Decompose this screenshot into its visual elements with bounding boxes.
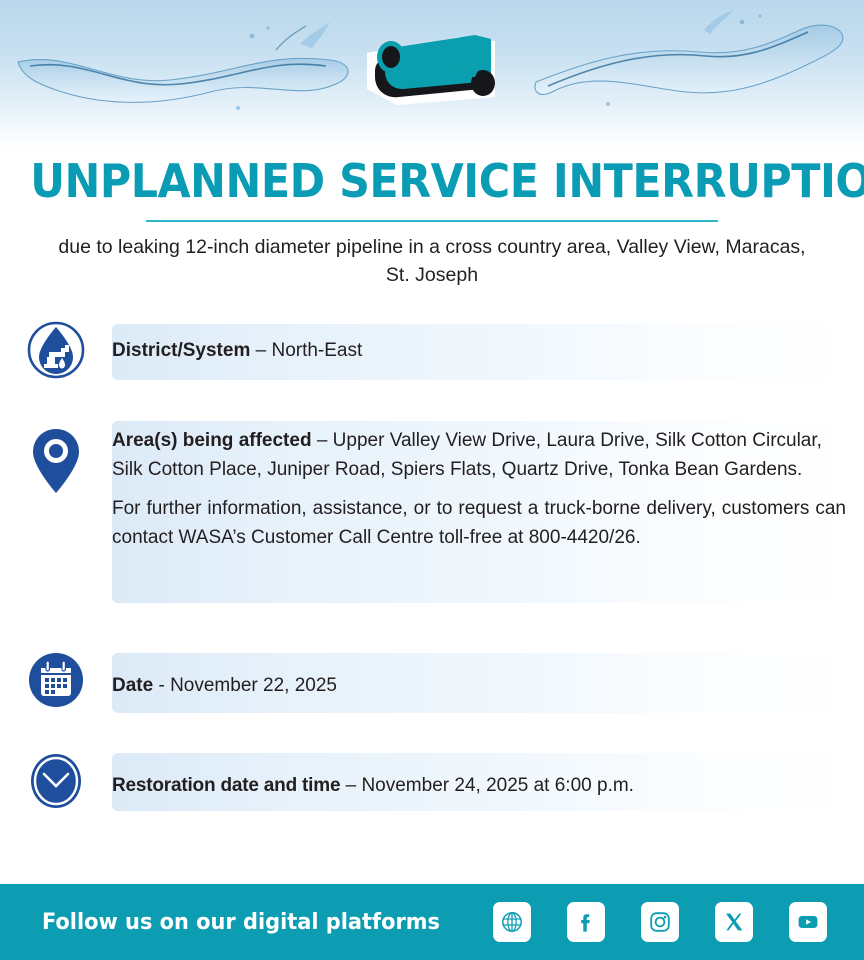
detail-row-date: Date - November 22, 2025 — [0, 647, 864, 725]
icon-cell — [0, 647, 112, 709]
row-separator: – — [340, 775, 361, 796]
title-divider — [146, 220, 718, 222]
x-twitter-icon[interactable] — [715, 902, 753, 942]
clock-icon — [27, 752, 85, 810]
website-globe-icon[interactable] — [493, 902, 531, 942]
instagram-icon[interactable] — [641, 902, 679, 942]
footer-bar: Follow us on our digital platforms — [0, 884, 864, 960]
page-title: UNPLANNED SERVICE INTERRUPTION — [30, 158, 834, 206]
row-label: District/System — [112, 340, 250, 361]
row-separator: – — [312, 430, 333, 451]
row-text: District/System – North-East — [112, 315, 380, 366]
detail-row-restoration: Restoration date and time – November 24,… — [0, 749, 864, 823]
social-links — [493, 902, 827, 942]
page-header: wasa — [0, 0, 864, 150]
row-value: North-East — [271, 340, 362, 361]
icon-cell — [0, 419, 112, 495]
footer-text: Follow us on our digital platforms — [42, 910, 440, 935]
wasa-logo: wasa — [363, 27, 503, 109]
facebook-icon[interactable] — [567, 902, 605, 942]
row-value: November 24, 2025 at 6:00 p.m. — [361, 775, 634, 796]
row-text: Area(s) being affected – Upper Valley Vi… — [112, 419, 864, 552]
row-separator: – — [250, 340, 271, 361]
detail-row-area: Area(s) being affected – Upper Valley Vi… — [0, 419, 864, 619]
row-label: Restoration date and time — [112, 775, 340, 796]
contact-paragraph: For further information, assistance, or … — [112, 495, 846, 552]
area-list-paragraph: Area(s) being affected – Upper Valley Vi… — [112, 427, 846, 484]
detail-row-district: District/System – North-East — [0, 315, 864, 393]
water-droplet-tap-icon — [27, 321, 85, 379]
notice-subtitle: due to leaking 12-inch diameter pipeline… — [52, 234, 812, 289]
icon-cell — [0, 749, 112, 810]
notice-details: District/System – North-East Area(s) bei… — [0, 315, 864, 823]
notice-title-block: UNPLANNED SERVICE INTERRUPTION due to le… — [0, 150, 864, 289]
map-pin-icon — [29, 427, 83, 495]
calendar-icon — [27, 651, 85, 709]
row-label: Date — [112, 675, 153, 696]
row-separator: - — [153, 675, 170, 696]
row-label: Area(s) being affected — [112, 430, 312, 451]
row-value: November 22, 2025 — [170, 675, 337, 696]
youtube-icon[interactable] — [789, 902, 827, 942]
row-text: Restoration date and time – November 24,… — [112, 749, 652, 801]
icon-cell — [0, 315, 112, 379]
row-text: Date - November 22, 2025 — [112, 647, 355, 701]
